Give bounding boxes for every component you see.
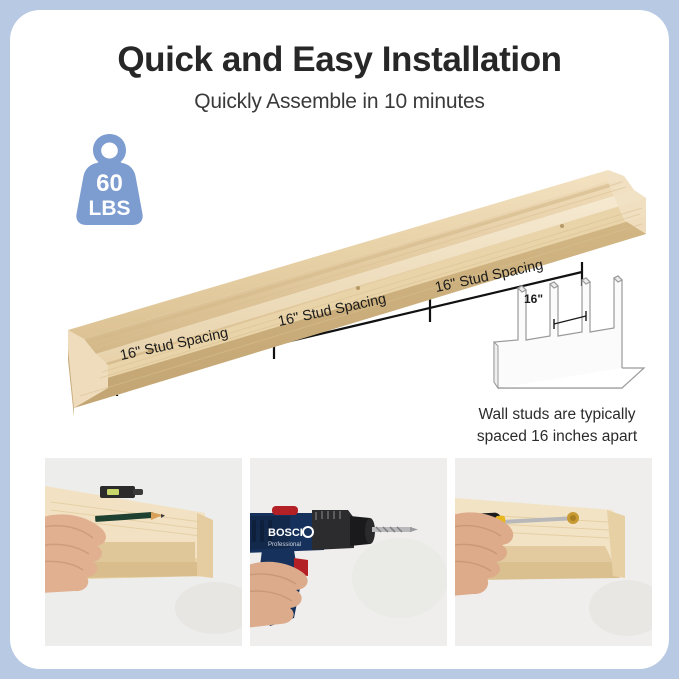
photo-drill-wall: BOSCH Professional [250,458,447,646]
page-subtitle: Quickly Assemble in 10 minutes [10,90,669,114]
stud-diagram-caption: Wall studs are typically spaced 16 inche… [457,404,657,448]
stud-measure-arrow [554,311,586,329]
page-title: Quick and Easy Installation [10,40,669,80]
photo-mark-with-pencil [45,458,242,646]
wall-studs-diagram: 16" [472,272,652,392]
installation-photo-strip: BOSCH Professional [45,458,654,646]
infographic-card: Quick and Easy Installation Quickly Asse… [10,10,669,669]
photo-screw-shelf [455,458,652,646]
wall-studs-icon [472,272,652,392]
svg-text:Professional: Professional [268,542,301,548]
brand-label: BOSCH [268,527,308,539]
stud-measure-label: 16" [524,292,543,306]
